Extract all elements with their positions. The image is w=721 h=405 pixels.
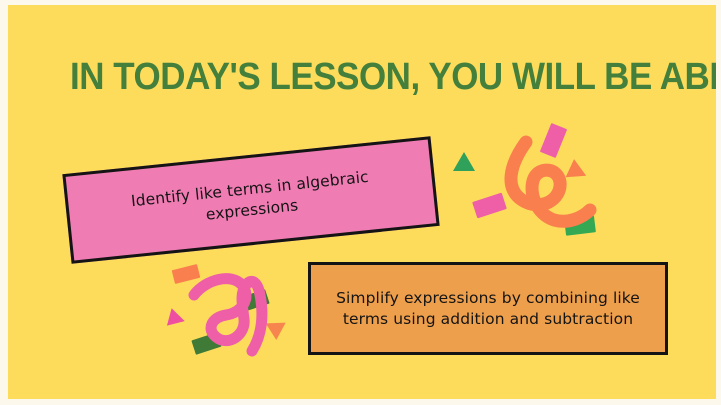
slide-root: IN TODAY'S LESSON, YOU WILL BE ABLE TO..… [0, 0, 721, 405]
page-title: IN TODAY'S LESSON, YOU WILL BE ABLE TO..… [70, 55, 622, 99]
pink-letter-a-squiggle-icon [186, 269, 286, 364]
pink-triangle-icon [167, 308, 187, 330]
orange-triangle-icon [266, 323, 287, 341]
objective-text-identify: Identify like terms in algebraic express… [68, 160, 434, 239]
green-rectangle-icon [191, 332, 221, 355]
pink-rectangle-icon [472, 193, 507, 219]
objective-box-identify[interactable]: Identify like terms in algebraic express… [62, 136, 439, 264]
orange-triangle-icon [566, 159, 591, 185]
objective-text-simplify: Simplify expressions by combining like t… [311, 288, 665, 330]
orange-letter-e-squiggle-icon [488, 130, 608, 240]
green-rectangle-icon [564, 215, 596, 236]
slide-canvas: IN TODAY'S LESSON, YOU WILL BE ABLE TO..… [8, 5, 716, 399]
green-triangle-icon [453, 152, 475, 171]
orange-rectangle-icon [172, 264, 201, 284]
pink-rectangle-icon [540, 123, 567, 158]
objective-box-simplify[interactable]: Simplify expressions by combining like t… [308, 262, 668, 355]
green-rectangle-icon [239, 289, 269, 312]
